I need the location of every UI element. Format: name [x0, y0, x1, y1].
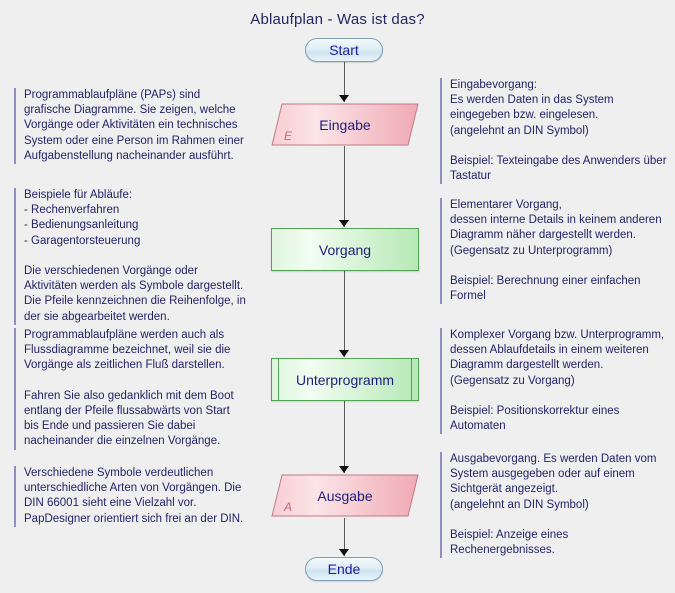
flow-node-ausgabe[interactable]: Ausgabe A — [271, 474, 419, 517]
flow-node-vorgang-label: Vorgang — [319, 242, 371, 258]
parallelogram-icon — [271, 474, 419, 517]
parallelogram-icon — [271, 103, 419, 146]
connector-eingabe-vorgang — [344, 146, 345, 227]
flow-node-start-label: Start — [329, 42, 359, 58]
flowchart-canvas: Ablaufplan - Was ist das? Programmablauf… — [0, 0, 675, 593]
flow-node-vorgang[interactable]: Vorgang — [271, 228, 419, 271]
page-title: Ablaufplan - Was ist das? — [0, 11, 675, 28]
arrowhead-vorgang — [339, 220, 349, 227]
flow-node-unterprogramm[interactable]: Unterprogramm — [271, 358, 419, 401]
flow-node-ende-label: Ende — [328, 561, 361, 577]
note-ausgabevorgang: Ausgabevorgang. Es werden Daten vom Syst… — [440, 452, 675, 558]
note-flussdiagramme: Programmablaufpläne werden auch als Flus… — [14, 328, 248, 450]
arrowhead-eingabe — [339, 95, 349, 102]
note-eingabevorgang: Eingabevorgang: Es werden Daten in das S… — [440, 78, 675, 184]
note-symbole: Verschiedene Symbole verdeutlichen unter… — [14, 466, 248, 527]
note-komplexer-vorgang: Komplexer Vorgang bzw. Unterprogramm, de… — [440, 328, 675, 434]
note-beispiele: Beispiele für Abläufe: - Rechenverfahren… — [14, 188, 248, 325]
arrowhead-ende — [339, 549, 349, 556]
note-paps: Programmablaufpläne (PAPs) sind grafisch… — [14, 88, 248, 164]
arrowhead-ausgabe — [339, 466, 349, 473]
flow-node-ende[interactable]: Ende — [305, 557, 383, 581]
connector-unterprogramm-ausgabe — [344, 401, 345, 473]
flow-node-unterprogramm-label: Unterprogramm — [296, 372, 394, 388]
flow-node-start[interactable]: Start — [305, 38, 383, 62]
note-elementarer-vorgang: Elementarer Vorgang, dessen interne Deta… — [440, 198, 675, 304]
connector-vorgang-unterprogramm — [344, 271, 345, 357]
arrowhead-unterprogramm — [339, 350, 349, 357]
flow-node-eingabe[interactable]: Eingabe E — [271, 103, 419, 146]
